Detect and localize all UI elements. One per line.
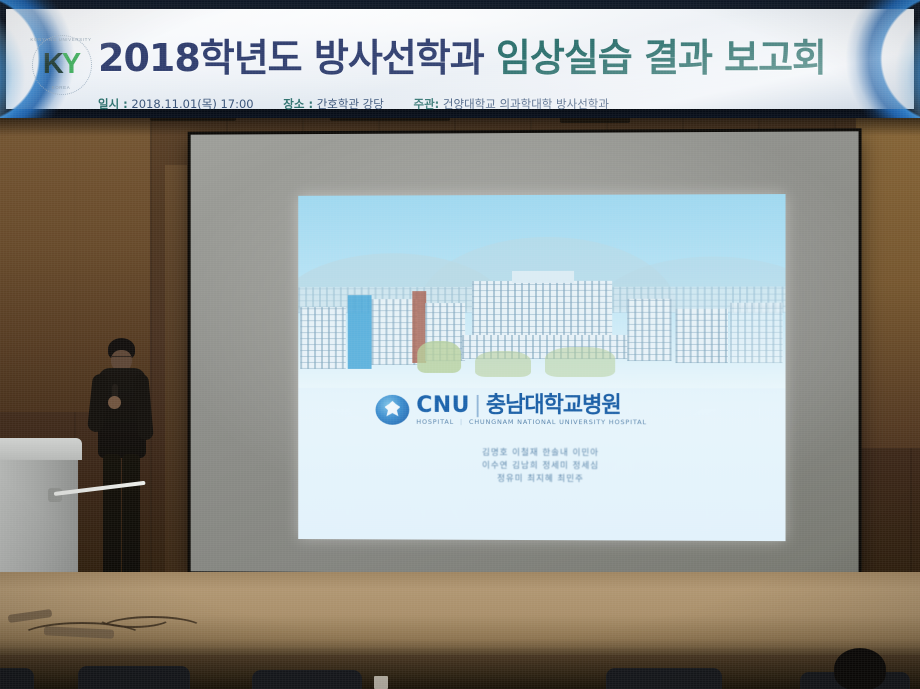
banner-host-value: 건양대학교 의과학대학 방사선학과 [443,97,609,111]
presenter-hand [108,396,121,409]
building-blue-clad [348,295,372,369]
building-left-2 [372,299,418,365]
banner-title-navy: 2018학년도 방사선학과 [98,36,484,80]
cnu-divider-2: | [460,417,463,425]
banner-subtitle: 일시 : 2018.11.01(목) 17:00 장소 : 간호학관 강당 주관… [98,95,888,113]
logo-letter-y: Y [62,48,79,80]
banner-sheet: KONYANG UNIVERSITY KY KOREA 2018학년도 방사선학… [6,9,914,109]
cnu-acronym-sub: HOSPITAL [416,417,454,425]
lectern-top [0,438,82,460]
audience-head [834,648,886,689]
cnu-emblem-icon [376,395,410,425]
logo-letters: KY [24,47,98,81]
slide-name-line: 정유미 최지혜 최민주 [298,472,785,486]
wall-right-section [856,118,920,448]
building-right-3 [730,303,783,363]
logo-seal-bottom-text: KOREA [24,85,98,90]
event-banner: KONYANG UNIVERSITY KY KOREA 2018학년도 방사선학… [0,0,920,118]
konyang-university-logo: KONYANG UNIVERSITY KY KOREA [24,33,98,95]
banner-place-value: 간호학관 강당 [317,97,384,111]
banner-place: 장소 : 간호학관 강당 [283,97,387,111]
floor-cable-3 [96,606,172,628]
audience-seat [606,668,722,689]
banner-datetime: 일시 : 2018.11.01(목) 17:00 [98,97,257,111]
cnu-logo-primary: CNU|충남대학교병원 [416,394,711,416]
audience-seat [0,668,34,689]
logo-letter-k: K [43,48,62,80]
banner-title-teal: 임상실습 결과 보고회 [496,36,826,80]
cnu-logo-secondary: HOSPITAL|CHUNGNAM NATIONAL UNIVERSITY HO… [416,417,711,425]
cnu-english-name: CHUNGNAM NATIONAL UNIVERSITY HOSPITAL [469,417,647,425]
banner-host-label: 주관: [414,97,440,111]
slide-name-list: 김명호 이철재 한솔내 이민아 이수연 김남희 정세미 정세심 정유미 최지혜 … [298,447,785,487]
cnu-divider: | [474,392,482,417]
audience-seat [252,670,362,689]
cnu-hospital-logo: CNU|충남대학교병원 HOSPITAL|CHUNGNAM NATIONAL U… [376,393,711,427]
conference-hall-photo: CNU|충남대학교병원 HOSPITAL|CHUNGNAM NATIONAL U… [0,0,920,689]
cnu-korean-name: 충남대학교병원 [486,392,621,417]
building-left-1 [300,307,346,369]
logo-seal-top-text: KONYANG UNIVERSITY [24,37,98,42]
banner-place-label: 장소 : [283,97,313,111]
building-main-rooftop [512,271,574,283]
cnu-acronym: CNU [416,392,470,417]
banner-datetime-value: 2018.11.01(목) 17:00 [131,97,253,111]
presenter-glasses [112,356,131,361]
wall-vertical-strip [165,165,187,585]
building-right-2 [676,309,728,363]
building-right-1 [627,299,671,361]
audience-seat [78,666,190,689]
projected-slide: CNU|충남대학교병원 HOSPITAL|CHUNGNAM NATIONAL U… [298,194,785,541]
slide-name-line: 이수연 김남희 정세미 정세심 [298,459,785,473]
banner-title: 2018학년도 방사선학과 임상실습 결과 보고회 [98,33,916,83]
banner-host: 주관: 건양대학교 의과학대학 방사선학과 [414,97,609,111]
trees-right [545,347,615,377]
trees-left [417,341,461,373]
seat-number-plate [374,676,388,689]
slide-name-line: 김명호 이철재 한솔내 이민아 [298,447,785,461]
trees-center [475,351,531,377]
banner-datetime-label: 일시 : [98,97,128,111]
projection-screen: CNU|충남대학교병원 HOSPITAL|CHUNGNAM NATIONAL U… [191,131,859,574]
cnu-logo-wordmark: CNU|충남대학교병원 HOSPITAL|CHUNGNAM NATIONAL U… [416,394,711,425]
building-main-hospital [472,281,612,339]
